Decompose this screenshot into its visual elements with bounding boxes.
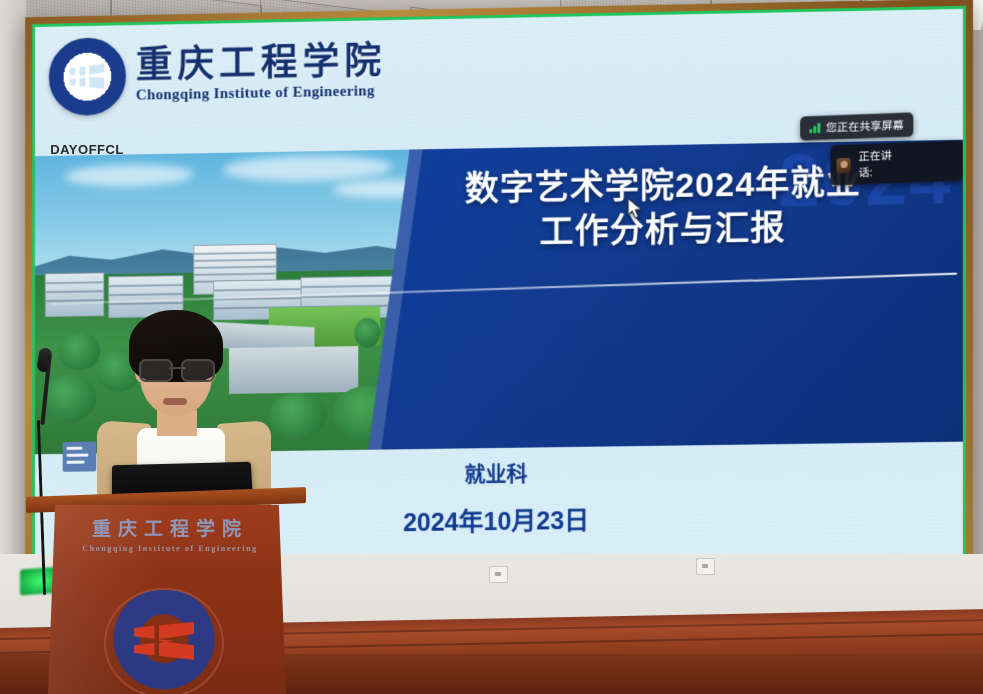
shirt-text: DAYOFFCL xyxy=(46,142,128,157)
podium-nameplate: 重庆工程学院 Chongqing Institute of Engineerin… xyxy=(70,514,270,552)
eyeglasses-icon xyxy=(139,359,215,379)
logo-name-cn: 重庆工程学院 xyxy=(136,43,386,85)
podium-name-en: Chongqing Institute of Engineering xyxy=(70,544,270,553)
screenshot-root: 2024 数字艺术学院2024年就业 工作分析与汇报 就业科 2024年10月2… xyxy=(0,0,983,694)
participant-avatar xyxy=(837,157,851,173)
signal-bars-icon xyxy=(809,123,820,133)
podium: 重庆工程学院 Chongqing Institute of Engineerin… xyxy=(26,492,306,694)
speaking-label: 正在讲话: xyxy=(859,147,903,181)
share-status-label: 您正在共享屏幕 xyxy=(826,117,904,136)
wall-outlet-2[interactable] xyxy=(696,558,715,575)
university-seal-icon xyxy=(49,37,126,116)
speaking-indicator: 正在讲话: xyxy=(830,140,962,185)
podium-name-cn: 重庆工程学院 xyxy=(70,514,270,541)
cqie-circular-emblem xyxy=(104,588,224,694)
wall-outlet-1[interactable] xyxy=(489,566,508,583)
logo-name-en: Chongqing Institute of Engineering xyxy=(136,84,386,104)
slide-list-icon xyxy=(63,442,97,472)
university-logo: 重庆工程学院 Chongqing Institute of Engineerin… xyxy=(49,32,386,116)
screen-share-status: 您正在共享屏幕 xyxy=(800,112,913,140)
mouth xyxy=(163,398,187,405)
